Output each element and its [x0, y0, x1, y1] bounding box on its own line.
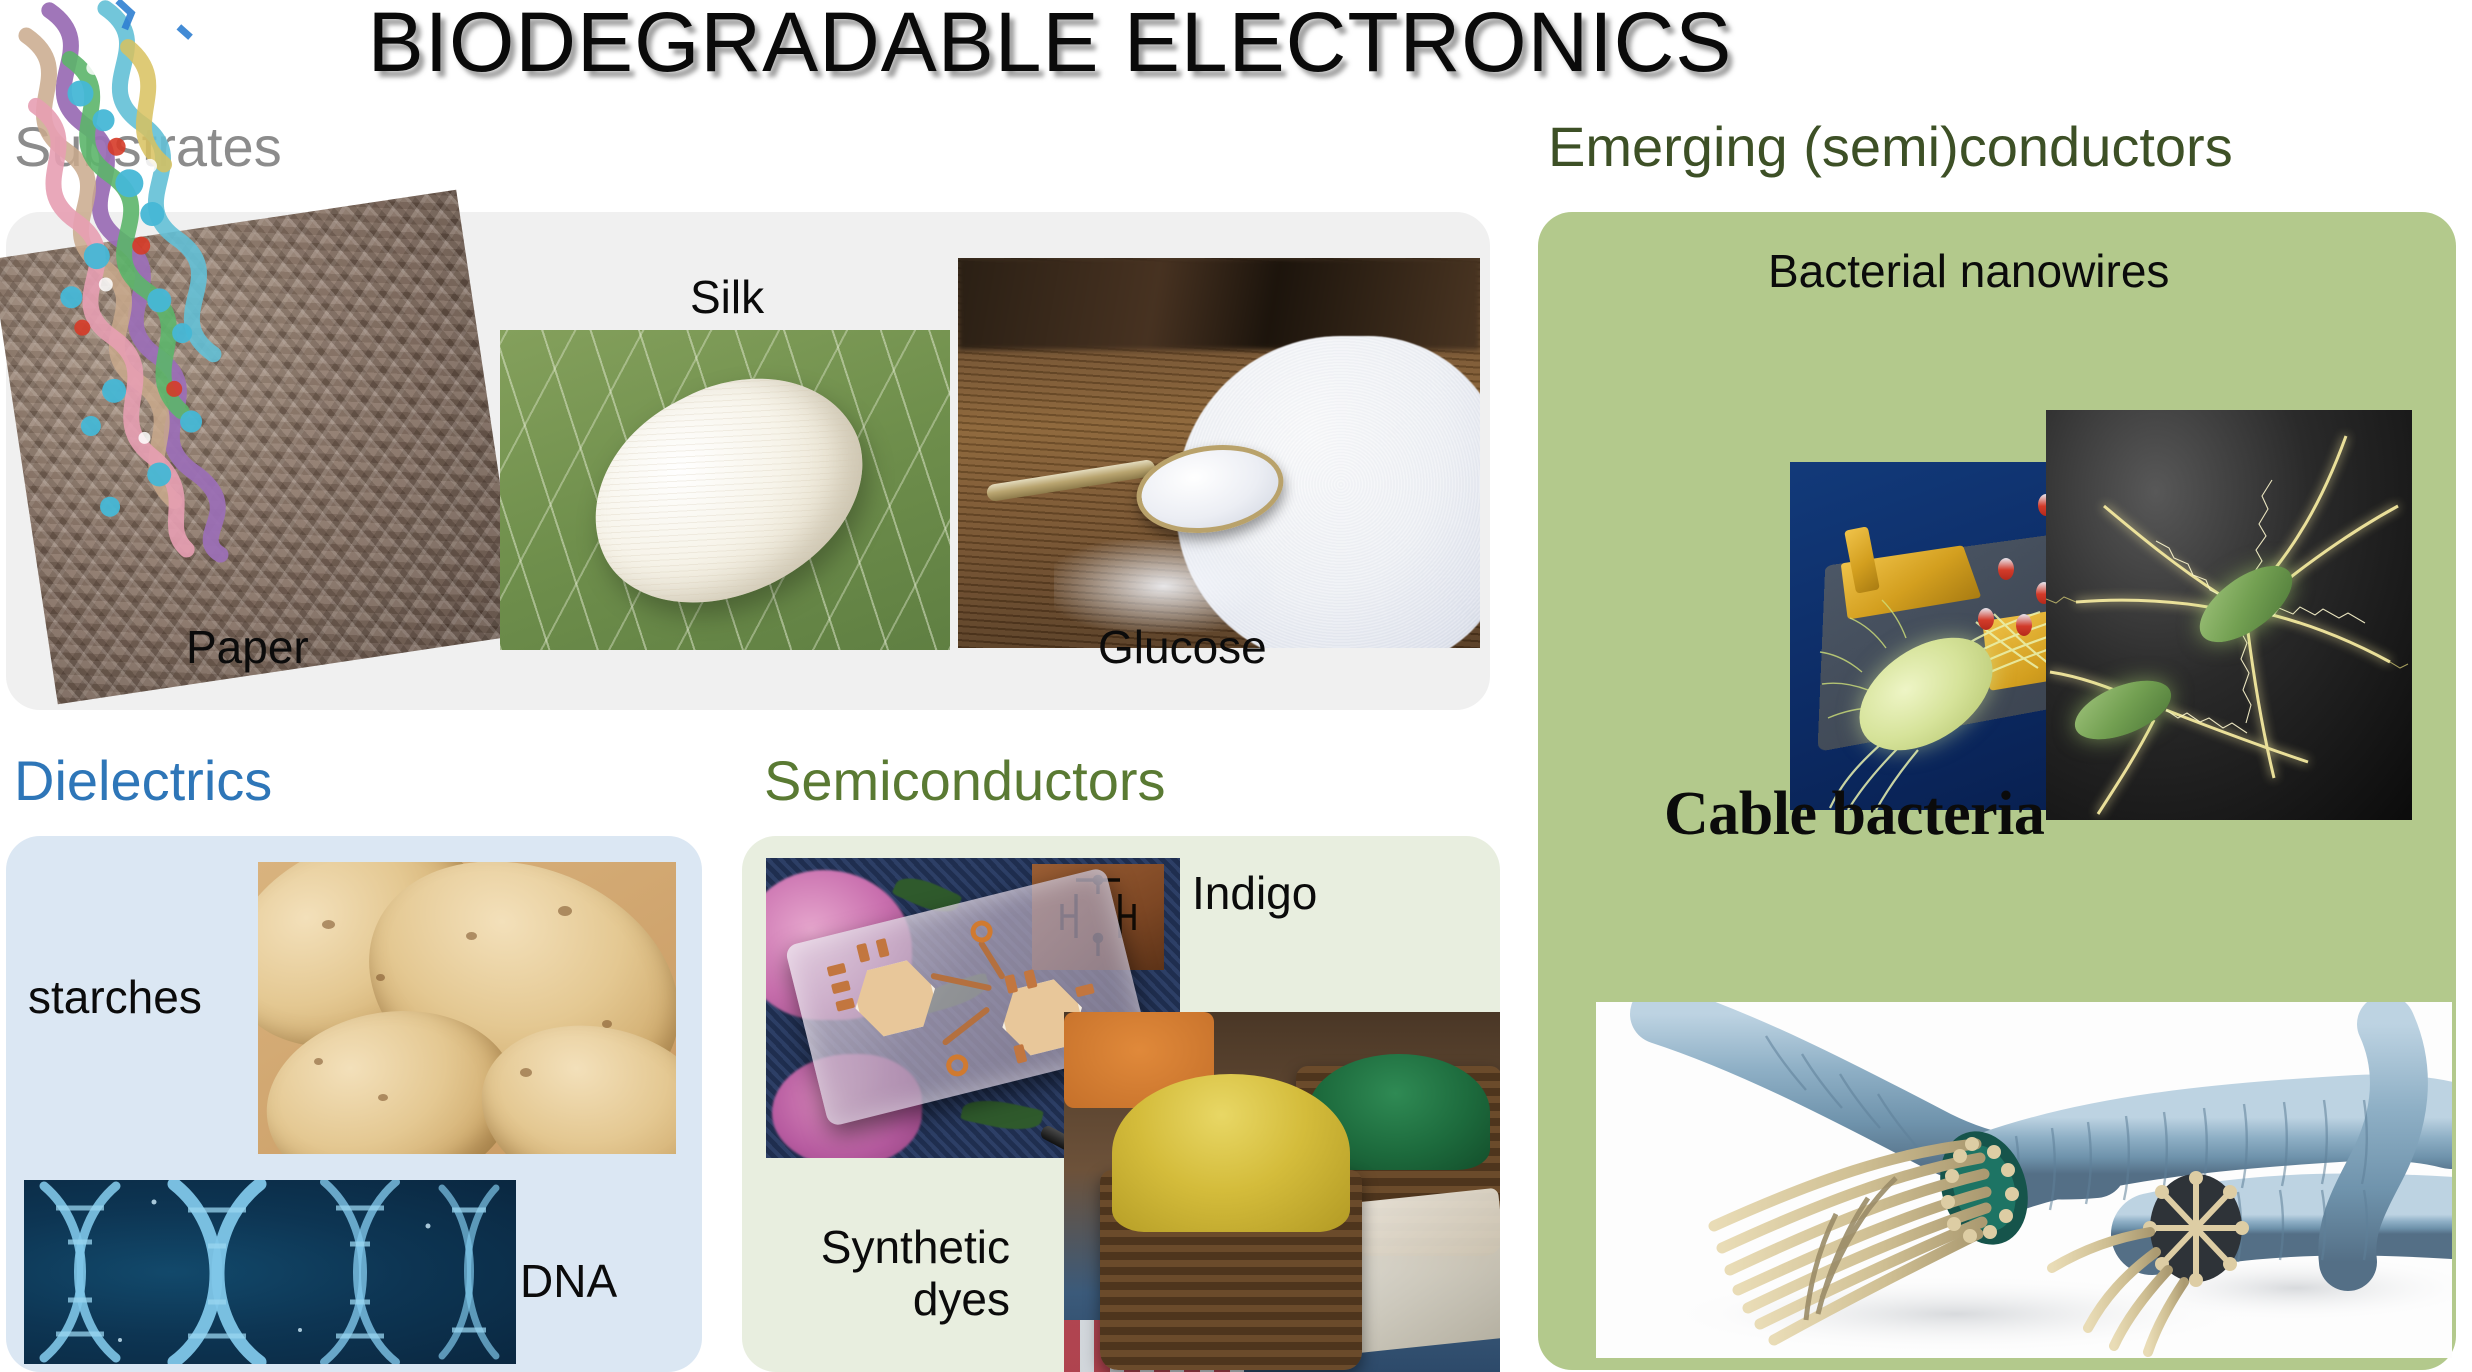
cable-bacteria-render-image: [1596, 1002, 2452, 1358]
caption-dna: DNA: [520, 1256, 617, 1308]
caption-synthetic-dyes: Synthetic dyes: [790, 1222, 1010, 1325]
caption-paper: Paper: [186, 622, 309, 674]
figure-canvas: BIODEGRADABLE ELECTRONICS Substrates Eme…: [0, 0, 2472, 1372]
nanowire-micrograph-image: [2046, 410, 2412, 820]
glucose-sugar-image: [958, 258, 1480, 648]
caption-silk: Silk: [690, 272, 764, 324]
section-header-emerging: Emerging (semi)conductors: [1548, 114, 2233, 179]
caption-glucose: Glucose: [1098, 622, 1267, 674]
caption-cable-bacteria: Cable bacteria: [1664, 780, 2044, 849]
caption-indigo: Indigo: [1192, 868, 1317, 920]
pilin-helix-fiber-image: [0, 0, 310, 565]
silk-cocoon-image: [500, 330, 950, 650]
figure-title: BIODEGRADABLE ELECTRONICS: [0, 0, 2100, 91]
dye-powders-image: [1064, 1012, 1500, 1372]
section-header-dielectrics: Dielectrics: [14, 748, 272, 813]
section-header-semiconductors: Semiconductors: [764, 748, 1166, 813]
caption-synthetic-dyes-line2: dyes: [913, 1273, 1010, 1325]
dna-helix-image: [24, 1180, 516, 1364]
potatoes-image: [258, 862, 676, 1154]
caption-bacterial-nanowires: Bacterial nanowires: [1768, 246, 2169, 298]
caption-starches: starches: [28, 972, 202, 1024]
caption-synthetic-dyes-line1: Synthetic: [821, 1221, 1010, 1273]
